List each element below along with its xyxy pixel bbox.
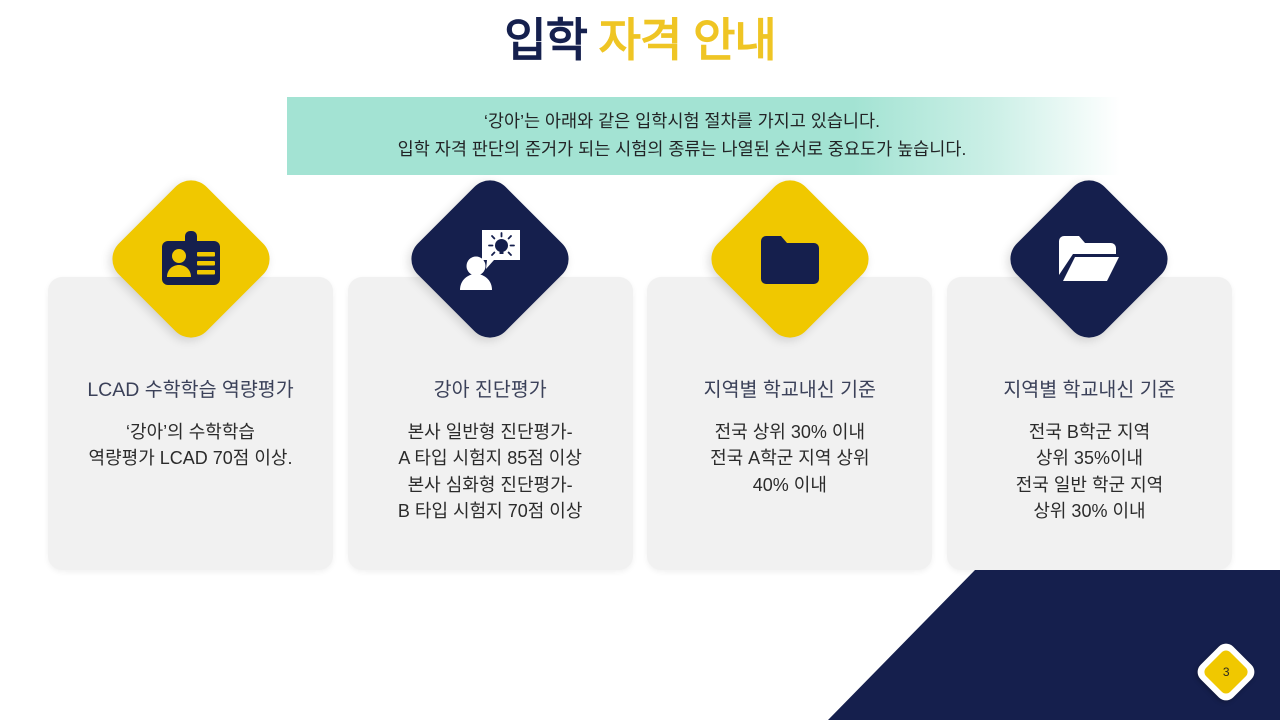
card-3-body: 전국 상위 30% 이내 전국 A학군 지역 상위 40% 이내 [702, 419, 878, 497]
criteria-card-1[interactable]: LCAD 수학학습 역량평가 ‘강아’의 수학학습 역량평가 LCAD 70점 … [48, 277, 333, 570]
folder-open-icon [1054, 224, 1124, 294]
card-4-diamond-badge [1002, 171, 1177, 346]
card-2-body: 본사 일반형 진단평가- A 타입 시험지 85점 이상 본사 심화형 진단평가… [390, 419, 591, 523]
person-idea-speech-bubble-icon [455, 224, 525, 294]
folder-closed-icon [755, 224, 825, 294]
card-1-body: ‘강아’의 수학학습 역량평가 LCAD 70점 이상. [81, 419, 301, 471]
card-1-title: LCAD 수학학습 역량평가 [87, 378, 293, 403]
criteria-card-3[interactable]: 지역별 학교내신 기준 전국 상위 30% 이내 전국 A학군 지역 상위 40… [647, 277, 932, 570]
card-2-title: 강아 진단평가 [434, 378, 547, 403]
card-4-title: 지역별 학교내신 기준 [1003, 378, 1175, 403]
page-title-primary: 입학 [504, 14, 598, 66]
criteria-card-4[interactable]: 지역별 학교내신 기준 전국 B학군 지역 상위 35%이내 전국 일반 학군 … [947, 277, 1232, 570]
card-1-diamond-badge [103, 171, 278, 346]
page-number-text: 3 [1223, 666, 1230, 678]
subtitle-line-2: 입학 자격 판단의 준거가 되는 시험의 종류는 나열된 순서로 중요도가 높습… [398, 138, 967, 162]
criteria-card-row: LCAD 수학학습 역량평가 ‘강아’의 수학학습 역량평가 LCAD 70점 … [48, 277, 1232, 570]
card-2-diamond-badge [402, 171, 577, 346]
subtitle-banner-content: ‘강아’는 아래와 같은 입학시험 절차를 가지고 있습니다. 입학 자격 판단… [287, 97, 1077, 175]
criteria-card-2[interactable]: 강아 진단평가 본사 일반형 진단평가- A 타입 시험지 85점 이상 본사 … [348, 277, 633, 570]
page-title-accent: 자격 안내 [599, 14, 776, 66]
subtitle-line-1: ‘강아’는 아래와 같은 입학시험 절차를 가지고 있습니다. [484, 110, 880, 134]
page-title: 입학 자격 안내 [0, 14, 1280, 67]
card-3-title: 지역별 학교내신 기준 [704, 378, 876, 403]
card-3-diamond-badge [702, 171, 877, 346]
page-number-badge-fill: 3 [1202, 648, 1250, 696]
card-4-body: 전국 B학군 지역 상위 35%이내 전국 일반 학군 지역 상위 30% 이내 [1008, 419, 1171, 523]
id-card-icon [156, 224, 226, 294]
page-number-badge: 3 [1193, 639, 1258, 704]
subtitle-banner: ‘강아’는 아래와 같은 입학시험 절차를 가지고 있습니다. 입학 자격 판단… [287, 97, 1120, 175]
slide-canvas: 입학 자격 안내 ‘강아’는 아래와 같은 입학시험 절차를 가지고 있습니다.… [0, 0, 1280, 720]
